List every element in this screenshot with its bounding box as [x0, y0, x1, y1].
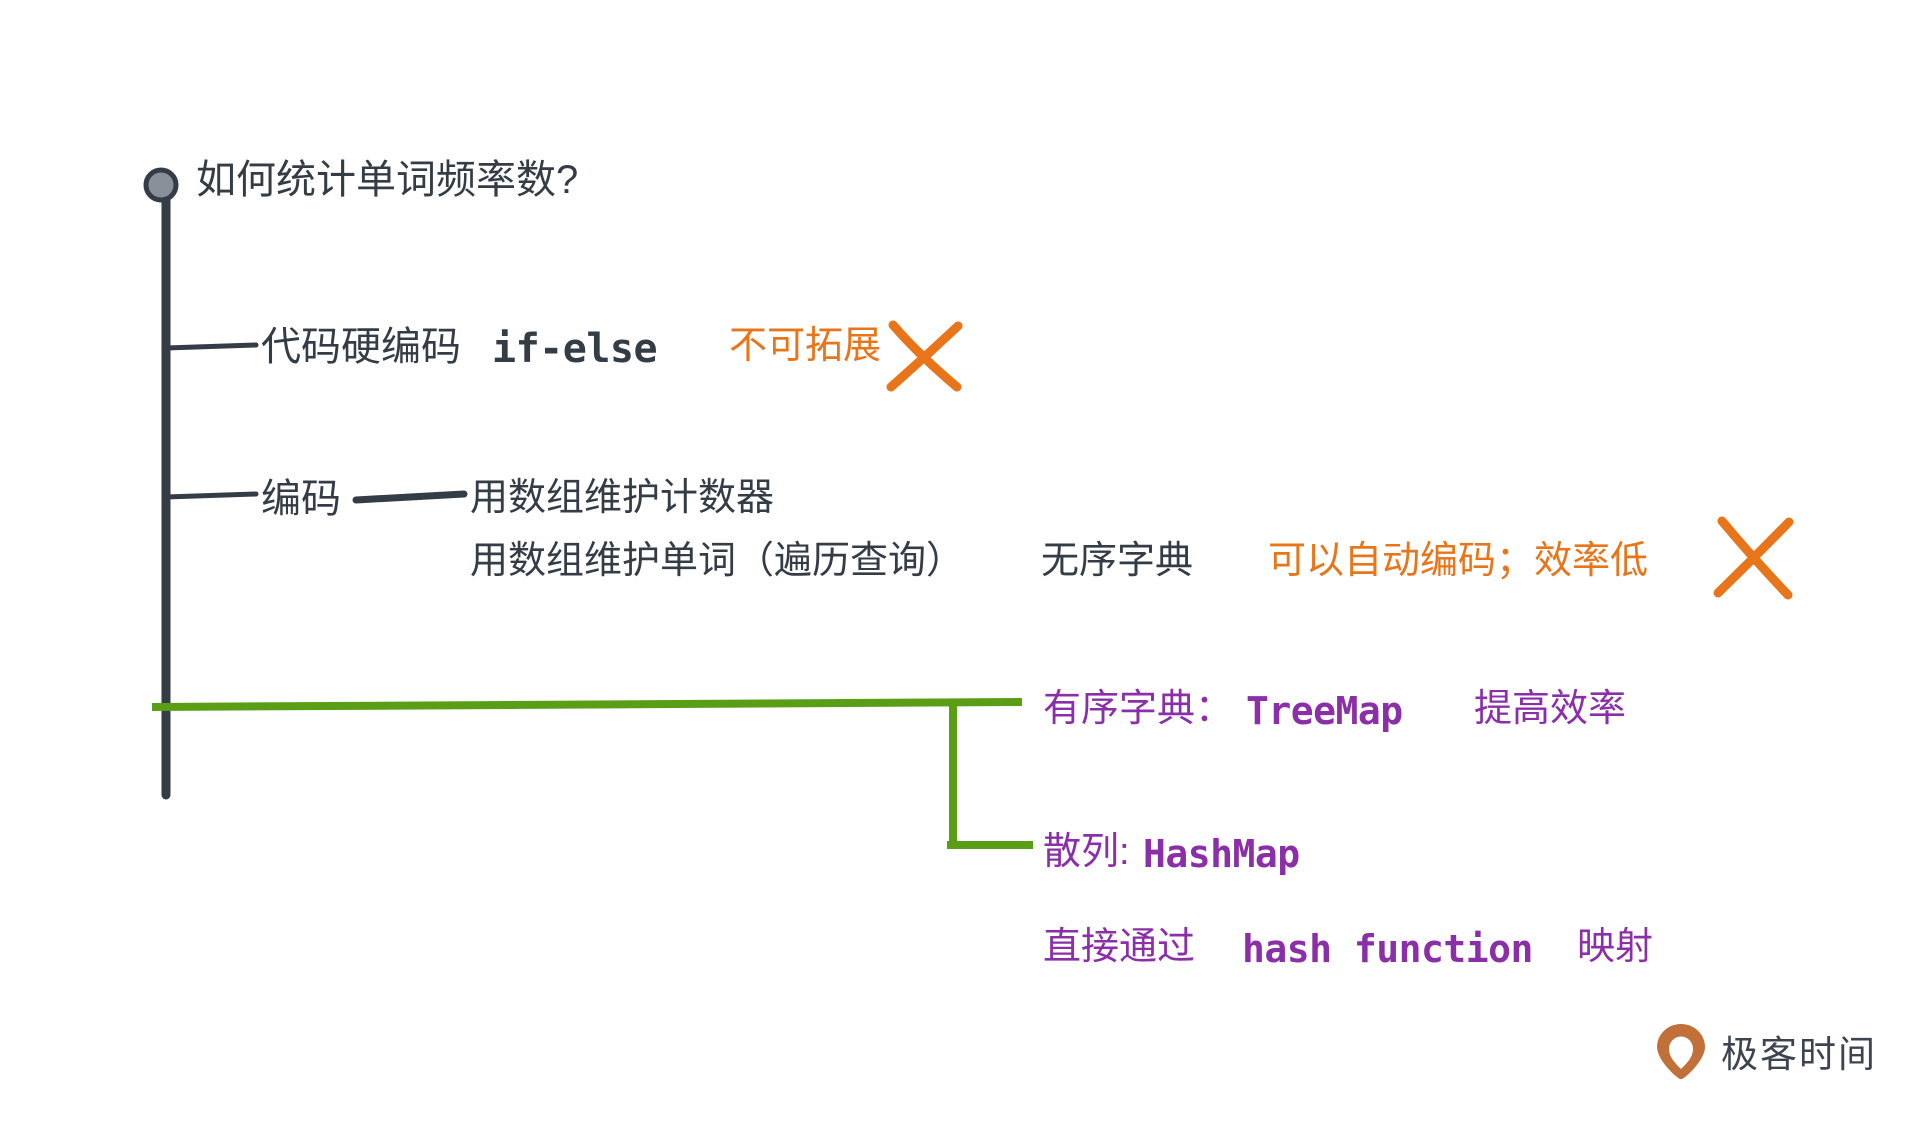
cross-mark-icon-1 — [891, 325, 958, 387]
branch-hardcode-note: 不可拓展 — [729, 327, 881, 365]
branch2-connector — [166, 494, 256, 497]
branch-hardcode-label: 代码硬编码 — [261, 327, 461, 367]
geektime-pin-icon — [1655, 1022, 1707, 1080]
treemap-note: 提高效率 — [1474, 690, 1626, 728]
treemap-code: TreeMap — [1246, 692, 1403, 730]
logo-text: 极客时间 — [1721, 1024, 1877, 1078]
root-node-circle — [146, 170, 176, 200]
mindmap-canvas: 如何统计单词频率数? 代码硬编码 if-else 不可拓展 编码 用数组维护计数… — [0, 0, 1920, 1145]
branch-encode-dict-label: 无序字典 — [1041, 542, 1193, 580]
green-horizontal-line — [156, 702, 1018, 707]
root-title: 如何统计单词频率数? — [196, 160, 578, 200]
branch2-connector-2 — [356, 494, 464, 500]
cross-mark-icon-2 — [1718, 521, 1789, 595]
treemap-label: 有序字典： — [1043, 690, 1233, 728]
branch-hardcode-code: if-else — [492, 329, 657, 369]
hashmap-code: HashMap — [1143, 835, 1300, 873]
hashmap-description-suffix: 映射 — [1577, 928, 1653, 966]
hashmap-label: 散列: — [1043, 833, 1130, 871]
branch-encode-line-1: 用数组维护计数器 — [470, 479, 774, 517]
branch-encode-line-2: 用数组维护单词（遍历查询） — [470, 542, 964, 580]
geektime-logo: 极客时间 — [1655, 1022, 1877, 1080]
hashmap-description-code: hash function — [1242, 930, 1533, 968]
branch-encode-label: 编码 — [261, 479, 341, 519]
branch-encode-note: 可以自动编码；效率低 — [1268, 542, 1648, 580]
branch1-connector — [166, 345, 256, 348]
hashmap-description-prefix: 直接通过 — [1043, 928, 1195, 966]
